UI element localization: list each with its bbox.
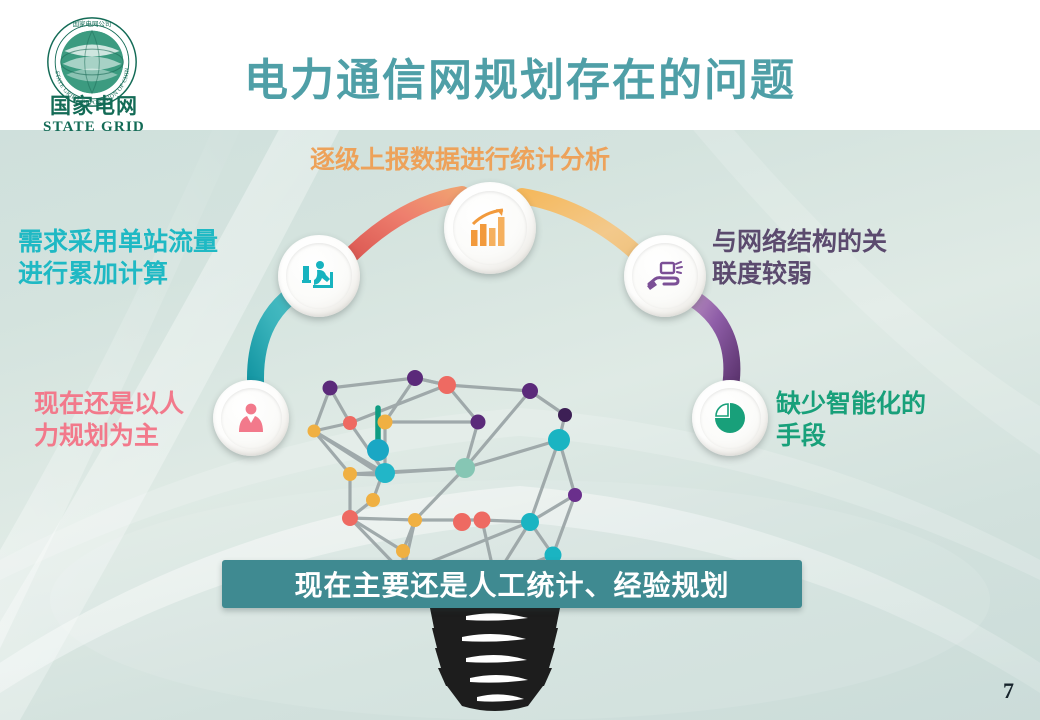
page-number: 7 [1003, 678, 1014, 704]
slide: 国家电网公司 STATE GRID CORPORATION OF CHINA 国… [0, 0, 1040, 720]
hand-holding-card-icon [646, 260, 684, 292]
slide-body: 逐级上报数据进行统计分析 需求采用单站流量 进行累加计算 与网络结构的关 联度较… [0, 130, 1040, 720]
state-grid-logo: 国家电网公司 STATE GRID CORPORATION OF CHINA 国… [24, 16, 164, 124]
person-bust-icon [235, 402, 267, 434]
summary-banner-text: 现在主要还是人工统计、经验规划 [294, 564, 729, 604]
summary-banner: 现在主要还是人工统计、经验规划 [222, 560, 802, 608]
logo-text-en: STATE GRID [24, 120, 164, 135]
label-lower-right: 缺少智能化的 手段 [776, 388, 926, 452]
label-left: 需求采用单站流量 进行累加计算 [18, 226, 218, 290]
page-title: 电力通信网规划存在的问题 [200, 44, 840, 108]
node-badge-top[interactable] [444, 182, 536, 274]
node-badge-right-inner [632, 243, 698, 309]
lightbulb-base [430, 608, 560, 711]
label-lower-left: 现在还是以人 力规划为主 [34, 388, 184, 452]
node-badge-left-inner [286, 243, 352, 309]
node-badge-lower-right-inner [700, 388, 761, 449]
node-badge-left[interactable] [278, 235, 360, 317]
node-badge-lower-left-inner [221, 388, 282, 449]
label-top: 逐级上报数据进行统计分析 [310, 144, 610, 176]
label-right: 与网络结构的关 联度较弱 [712, 226, 887, 290]
node-badge-top-inner [453, 191, 527, 265]
logo-text-cn: 国家电网 [24, 96, 164, 117]
node-badge-lower-left[interactable] [213, 380, 289, 456]
bar-chart-growth-icon [469, 208, 511, 248]
person-at-desk-icon [301, 258, 337, 294]
slide-header: 国家电网公司 STATE GRID CORPORATION OF CHINA 国… [0, 0, 1040, 130]
svg-text:国家电网公司: 国家电网公司 [73, 19, 112, 28]
pie-chart-icon [713, 401, 747, 435]
node-badge-right[interactable] [624, 235, 706, 317]
node-badge-lower-right[interactable] [692, 380, 768, 456]
